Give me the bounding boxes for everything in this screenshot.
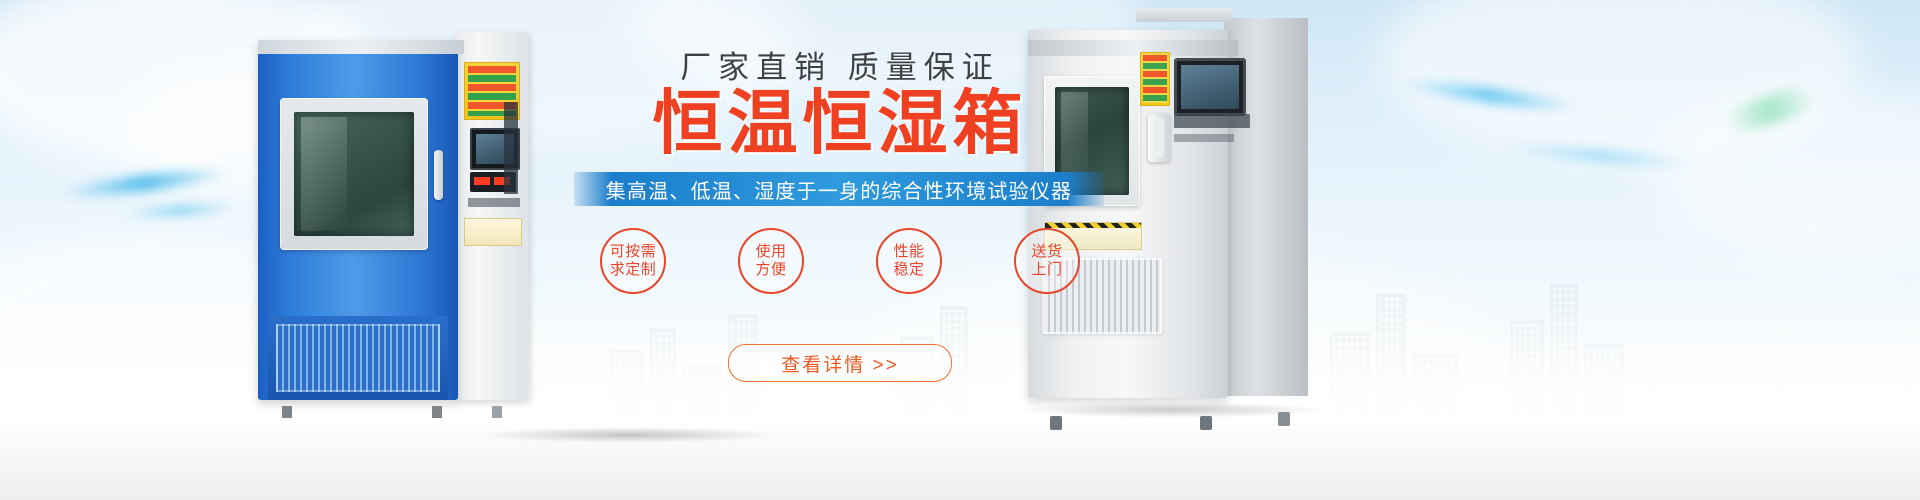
feature-line-1: 送货 [1031, 243, 1062, 261]
product-image-left-chamber [258, 32, 528, 404]
product-feet [282, 406, 292, 418]
feature-line-1: 使用 [755, 243, 786, 261]
blue-ribbon-decoration [120, 201, 240, 220]
door-handle [434, 150, 443, 200]
banner-tagline: 厂家直销 质量保证 [560, 52, 1120, 83]
control-screen [1174, 58, 1246, 116]
feature-circle-easy-use[interactable]: 使用 方便 [738, 228, 804, 294]
feature-line-2: 稳定 [893, 261, 924, 279]
banner-copy-block: 厂家直销 质量保证 恒温恒湿箱 集高温、低温、湿度于一身的综合性环境试验仪器 可… [560, 0, 1120, 500]
feature-circle-list: 可按需 求定制 使用 方便 性能 稳定 送货 上门 [600, 228, 1080, 294]
ventilation-grille [276, 324, 440, 392]
door-handle [1148, 114, 1170, 162]
feature-line-2: 上门 [1031, 261, 1062, 279]
chamber-window [294, 112, 414, 236]
vertical-brand-text [504, 102, 518, 194]
spec-sticker [464, 218, 522, 246]
product-subtitle-plate [1174, 134, 1234, 142]
product-nameplate [1174, 114, 1250, 128]
feature-circle-stable[interactable]: 性能 稳定 [876, 228, 942, 294]
product-body [258, 40, 458, 400]
warning-label-panel [1140, 52, 1170, 106]
feature-circle-delivery[interactable]: 送货 上门 [1014, 228, 1080, 294]
product-upper-cap [1136, 8, 1232, 22]
feature-line-1: 性能 [893, 243, 924, 261]
feature-line-1: 可按需 [610, 243, 657, 261]
view-details-button[interactable]: 查看详情 >> [728, 344, 952, 382]
feature-line-2: 方便 [755, 261, 786, 279]
chamber-door [280, 98, 428, 250]
product-top-cap [258, 40, 464, 54]
banner-subtitle-bar: 集高温、低温、湿度于一身的综合性环境试验仪器 [574, 172, 1104, 206]
banner-headline: 恒温恒湿箱 [560, 88, 1120, 158]
product-nameplate [468, 198, 520, 207]
banner-subtitle-text: 集高温、低温、湿度于一身的综合性环境试验仪器 [606, 175, 1072, 204]
feature-line-2: 求定制 [610, 261, 657, 279]
promo-banner: 厂家直销 质量保证 恒温恒湿箱 集高温、低温、湿度于一身的综合性环境试验仪器 可… [0, 0, 1920, 500]
feature-circle-custom[interactable]: 可按需 求定制 [600, 228, 666, 294]
